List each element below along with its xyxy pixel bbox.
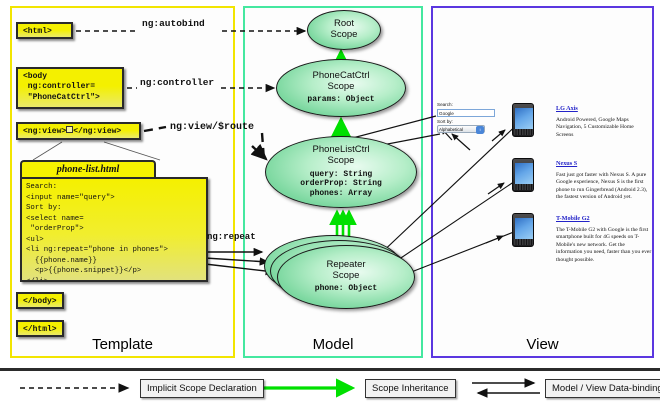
diagram-canvas: Template Model View: [0, 0, 660, 405]
phone-keyboard: [514, 129, 534, 135]
phone-thumbnail: [512, 213, 534, 247]
phone-keyboard: [514, 184, 534, 190]
scope-phonecatctrl: PhoneCatCtrlScope params: Object: [276, 59, 406, 117]
panel-model-label: Model: [245, 336, 421, 353]
phone-thumbnail: [512, 103, 534, 137]
phone-screen: [515, 108, 533, 130]
code-box-body-open: <body ng:controller= "PhoneCatCtrl">: [16, 67, 124, 109]
ng-view-close-tag: </ng:view>: [73, 127, 121, 136]
phone-name-link[interactable]: T-Mobile G2: [556, 215, 590, 222]
legend-item-data-binding: Model / View Data-binding: [545, 379, 660, 398]
phone-description: Android Powered, Google Maps Navigation,…: [556, 117, 652, 139]
code-box-ng-view: <ng:view></ng:view>: [16, 122, 141, 140]
label-ng-view-route: ng:view/$route: [170, 122, 254, 133]
sort-label: Sort by:: [437, 119, 499, 125]
search-label: Search:: [437, 102, 499, 108]
legend-item-scope-inheritance: Scope Inheritance: [365, 379, 456, 398]
label-ng-autobind: ng:autobind: [142, 18, 205, 29]
phone-screen: [515, 163, 533, 185]
scope-phonecatctrl-props: params: Object: [307, 95, 374, 105]
scope-phonelistctrl: PhoneListCtrlScope query: String orderPr…: [265, 136, 417, 208]
scope-phonecatctrl-name: PhoneCatCtrlScope: [312, 71, 369, 92]
chevron-updown-icon: ↕: [476, 126, 484, 134]
code-box-html-close: </html>: [16, 320, 64, 337]
phone-list-html-card: phone-list.html Search: <input name="que…: [20, 160, 208, 282]
scope-phonelistctrl-props: query: String orderProp: String phones: …: [300, 170, 382, 199]
phone-description: The T-Mobile G2 with Google is the first…: [556, 227, 652, 264]
sort-select-value: Alphabetical: [439, 127, 463, 132]
phone-keyboard: [514, 239, 534, 245]
legend: Implicit Scope Declaration Scope Inherit…: [0, 368, 660, 405]
code-box-html-open: <html>: [16, 22, 73, 39]
panel-template-label: Template: [12, 336, 233, 353]
phone-thumbnail: [512, 158, 534, 192]
phone-name-link[interactable]: Nexus S: [556, 160, 577, 167]
sort-select[interactable]: Alphabetical ↕: [437, 125, 485, 133]
phone-list-html-code: Search: <input name="query"> Sort by: <s…: [20, 177, 208, 282]
phone-screen: [515, 218, 533, 240]
panel-view-label: View: [433, 336, 652, 353]
code-box-body-close: </body>: [16, 292, 64, 309]
scope-repeater-props: phone: Object: [315, 284, 377, 294]
search-input[interactable]: Google: [437, 109, 495, 117]
phone-list-html-title: phone-list.html: [20, 160, 156, 178]
view-search-form: Search: Google Sort by: Alphabetical ↕: [437, 102, 499, 133]
scope-repeater-name: RepeaterScope: [326, 260, 365, 281]
scope-root: RootScope: [307, 10, 381, 50]
scope-phonelistctrl-name: PhoneListCtrlScope: [312, 145, 369, 166]
ng-view-placeholder-icon: [66, 126, 73, 133]
scope-root-name: RootScope: [331, 19, 358, 40]
legend-item-implicit-scope-declaration: Implicit Scope Declaration: [140, 379, 264, 398]
label-ng-repeat: ng:repeat: [207, 232, 256, 242]
phone-name-link[interactable]: LG Axis: [556, 105, 578, 112]
phone-description: Fast just got faster with Nexus S. A pur…: [556, 172, 652, 202]
label-ng-controller: ng:controller: [140, 77, 214, 88]
ng-view-open-tag: <ng:view>: [23, 127, 66, 136]
scope-repeater: RepeaterScope phone: Object: [277, 245, 415, 309]
